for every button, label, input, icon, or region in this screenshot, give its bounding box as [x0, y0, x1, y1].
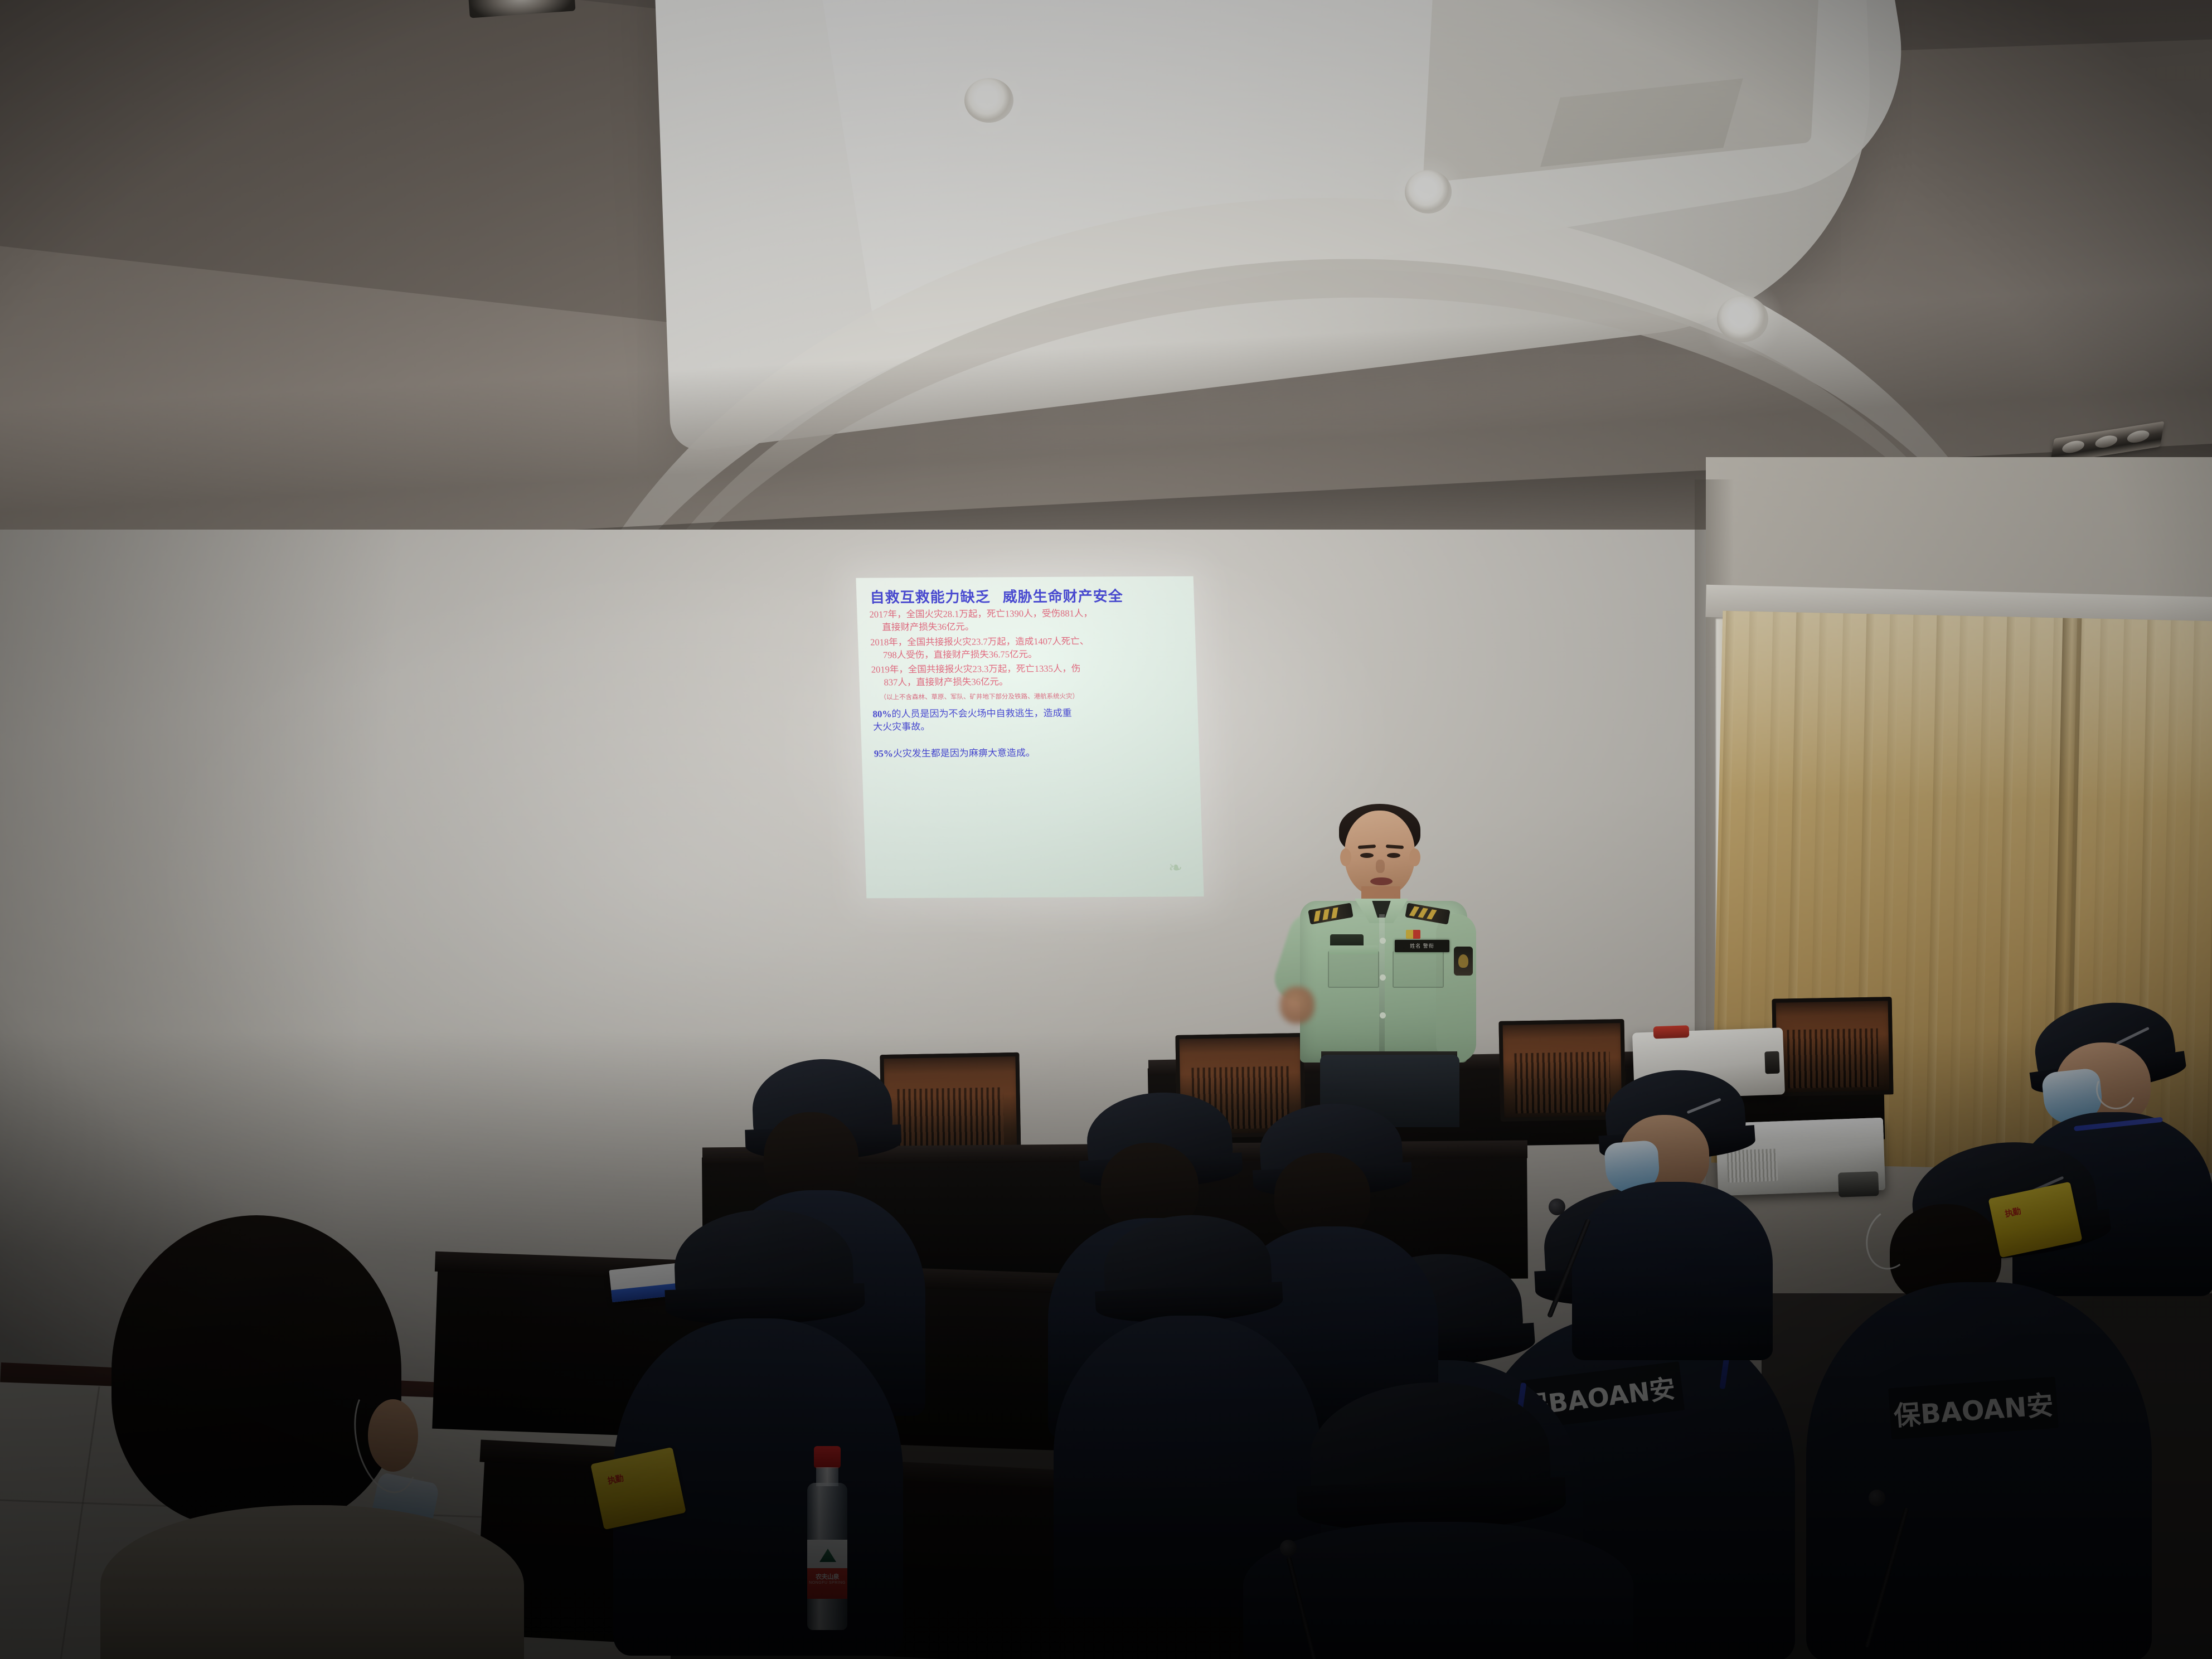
audience-member [1572, 1070, 1773, 1360]
armband-text: 执勤 [607, 1474, 624, 1485]
downlight-icon [1717, 295, 1768, 342]
slide-title-right: 威胁生命财产安全 [1002, 588, 1123, 605]
bottle-brand-en: NONGFU SPRING [807, 1581, 847, 1585]
presenter-name-tag-text: 姓名 警衔 [1395, 940, 1449, 952]
downlight-icon [1405, 170, 1452, 214]
microphone-head-icon[interactable] [1549, 1199, 1565, 1215]
conference-room-photo: 自救互救能力缺乏威胁生命财产安全 2017年，全国火灾28.1万起，死亡1390… [0, 0, 2212, 1659]
presenter-button [1380, 938, 1386, 944]
presenter-shoulder-patch-icon [1454, 947, 1473, 976]
baoan-patch-text: 保BAOAN安 [1893, 1383, 2055, 1433]
water-bottle[interactable]: 农夫山泉 NONGFU SPRING [802, 1446, 853, 1630]
presenter-gesturing-hand [1280, 987, 1314, 1023]
bottle-brand-cn: 农夫山泉 [807, 1572, 847, 1581]
presenter-shirt-placket [1379, 914, 1385, 1054]
slide-highlight-80: 80%的人员是因为不会火场中自救逃生，造成重 大火灾事故。 [872, 706, 1190, 733]
mountain-logo-icon [819, 1549, 836, 1562]
slide-title: 自救互救能力缺乏威胁生命财产安全 [870, 589, 1185, 605]
downlight-icon [964, 78, 1013, 123]
torso [1806, 1282, 2152, 1659]
audience-member: 执勤 [613, 1210, 903, 1656]
presenter-right-arm [1436, 914, 1476, 1063]
uniform-cap [1101, 1211, 1273, 1322]
presenter-eye [1387, 853, 1400, 858]
presenter-nose [1376, 860, 1385, 873]
presenter-mouth [1370, 877, 1393, 885]
bottle-cap[interactable] [814, 1446, 841, 1468]
slide-stat-2018: 2018年，全国共接报火灾23.7万起，造成1407人死亡、 798人受伤，直接… [870, 634, 1187, 661]
chair[interactable] [1772, 997, 1893, 1097]
audience-member-foreground [33, 1215, 535, 1659]
presenter-ear [1340, 848, 1351, 866]
presenter-chest-pocket [1328, 951, 1379, 988]
presenter-officer: 姓名 警衔 [1277, 797, 1494, 1120]
microphone-head-icon[interactable] [1869, 1490, 1885, 1506]
presenter-eye [1360, 853, 1374, 858]
uniform-cap [673, 1206, 855, 1324]
presenter-button [1380, 1012, 1386, 1018]
head [111, 1215, 401, 1527]
slide-highlight-95: 95%火灾发生都是因为麻痹大意造成。 [874, 746, 1190, 761]
presenter-button [1380, 974, 1386, 981]
projected-slide: 自救互救能力缺乏威胁生命财产安全 2017年，全国火灾28.1万起，死亡1390… [856, 576, 1204, 899]
presenter-chest-pocket [1393, 951, 1444, 988]
torso-sweater [100, 1505, 524, 1659]
presenter-flag-badge-icon [1406, 930, 1420, 939]
armband-text: 执勤 [2004, 1207, 2021, 1218]
presenter-ear [1409, 848, 1420, 866]
torso [1572, 1182, 1773, 1360]
presenter-name-tag: 姓名 警衔 [1395, 940, 1449, 952]
torso [1243, 1522, 1633, 1659]
slide-stat-2017: 2017年，全国火灾28.1万起，死亡1390人，受伤881人， 直接财产损失3… [869, 607, 1186, 634]
bottle-label: 农夫山泉 NONGFU SPRING [807, 1540, 847, 1599]
slide-logo-icon: ❧ [1168, 860, 1195, 889]
slide-footnote: （以上不含森林、草原、军队、矿井地下部分及铁路、港航系统火灾） [880, 691, 1189, 701]
case-handle[interactable] [1653, 1025, 1689, 1039]
slide-stat-2019: 2019年，全国共接报火灾23.3万起，死亡1335人，伤 837人，直接财产损… [871, 662, 1188, 689]
slide-title-left: 自救互救能力缺乏 [870, 589, 991, 605]
microphone-head-icon[interactable] [1280, 1540, 1297, 1556]
audience-member: 保BAOAN安 执勤 [1806, 1143, 2152, 1659]
uniform-cap [1308, 1379, 1553, 1532]
